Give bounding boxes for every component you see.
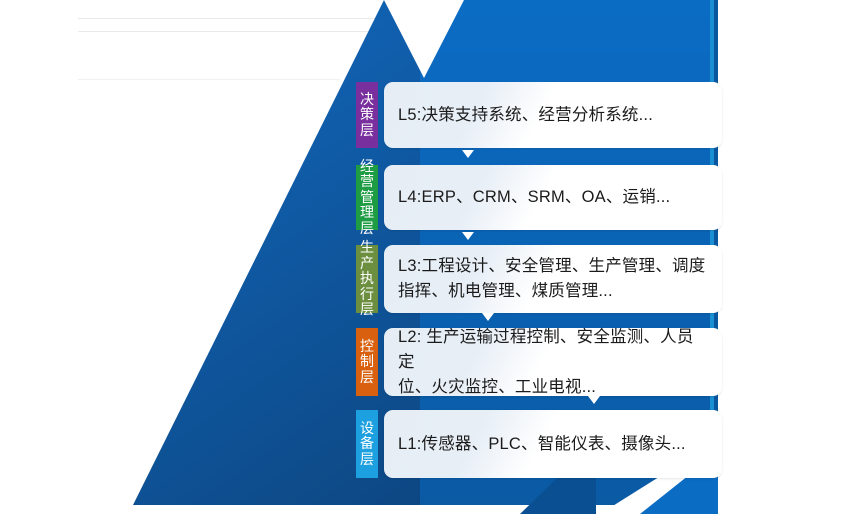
layer-text-l3: L3:工程设计、安全管理、生产管理、调度 指挥、机电管理、煤质管理...: [398, 254, 705, 304]
chevron-down-icon: [588, 396, 600, 404]
layer-tab-l1[interactable]: 设 备 层: [356, 410, 378, 478]
layer-tab-char: 设: [360, 421, 374, 437]
layer-tab-char: 行: [360, 287, 374, 303]
chevron-down-icon: [482, 313, 494, 321]
layer-text-l4: L4:ERP、CRM、SRM、OA、运销...: [398, 185, 670, 210]
layer-tab-char: 层: [360, 302, 374, 318]
layer-tab-char: 层: [360, 221, 374, 237]
layer-tab-char: 营: [360, 174, 374, 190]
layer-tab-char: 备: [360, 436, 374, 452]
layer-row-l4[interactable]: 经 营 管 理 层 L4:ERP、CRM、SRM、OA、运销...: [356, 165, 722, 230]
layer-tab-char: 执: [360, 271, 374, 287]
diagram-canvas: 决 策 层 L5:决策支持系统、经营分析系统... 经 营 管 理 层 L4:E…: [0, 0, 856, 514]
layer-row-l2[interactable]: 控 制 层 L2: 生产运输过程控制、安全监测、人员定 位、火灾监控、工业电视.…: [356, 328, 722, 396]
layer-text-l1: L1:传感器、PLC、智能仪表、摄像头...: [398, 432, 686, 457]
chevron-down-icon: [462, 150, 474, 158]
layer-text-l5: L5:决策支持系统、经营分析系统...: [398, 103, 653, 128]
layer-tab-l4[interactable]: 经 营 管 理 层: [356, 165, 378, 230]
layer-tab-char: 策: [360, 107, 374, 123]
layer-row-l5[interactable]: 决 策 层 L5:决策支持系统、经营分析系统...: [356, 82, 722, 148]
layer-tab-char: 层: [360, 370, 374, 386]
layer-tab-l2[interactable]: 控 制 层: [356, 328, 378, 396]
layer-tab-l3[interactable]: 生 产 执 行 层: [356, 245, 378, 313]
layer-tab-char: 制: [360, 354, 374, 370]
layer-tab-char: 理: [360, 205, 374, 221]
layer-tab-char: 管: [360, 190, 374, 206]
layer-tab-char: 层: [360, 123, 374, 139]
chevron-down-icon: [462, 232, 474, 240]
layer-tab-char: 决: [360, 92, 374, 108]
layer-text-l2: L2: 生产运输过程控制、安全监测、人员定 位、火灾监控、工业电视...: [398, 325, 708, 400]
layer-tab-char: 产: [360, 256, 374, 272]
layer-tab-char: 生: [360, 240, 374, 256]
layer-card-l1[interactable]: L1:传感器、PLC、智能仪表、摄像头...: [384, 410, 722, 478]
layer-tab-char: 经: [360, 159, 374, 175]
layer-tab-char: 层: [360, 452, 374, 468]
layer-card-l2[interactable]: L2: 生产运输过程控制、安全监测、人员定 位、火灾监控、工业电视...: [384, 328, 722, 396]
layer-card-l4[interactable]: L4:ERP、CRM、SRM、OA、运销...: [384, 165, 722, 230]
layer-card-l5[interactable]: L5:决策支持系统、经营分析系统...: [384, 82, 722, 148]
layer-row-l3[interactable]: 生 产 执 行 层 L3:工程设计、安全管理、生产管理、调度 指挥、机电管理、煤…: [356, 245, 722, 313]
layer-tab-char: 控: [360, 339, 374, 355]
layer-row-l1[interactable]: 设 备 层 L1:传感器、PLC、智能仪表、摄像头...: [356, 410, 722, 478]
layer-card-l3[interactable]: L3:工程设计、安全管理、生产管理、调度 指挥、机电管理、煤质管理...: [384, 245, 722, 313]
layer-tab-l5[interactable]: 决 策 层: [356, 82, 378, 148]
